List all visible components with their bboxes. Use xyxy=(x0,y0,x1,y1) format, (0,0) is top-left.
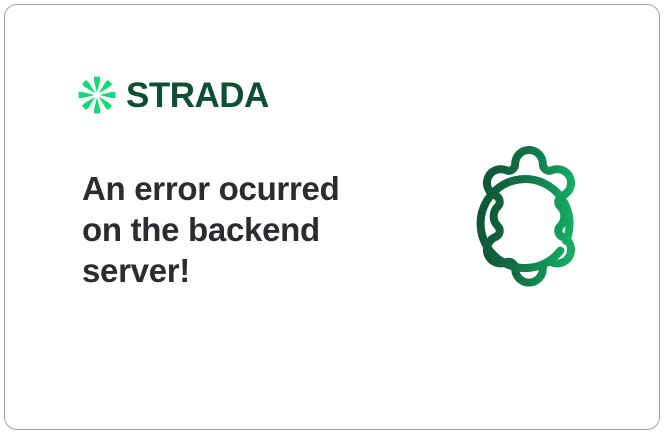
error-message-line-2: on the backend xyxy=(82,209,382,250)
brand-wordmark: STRADA xyxy=(126,78,269,113)
error-message-line-3: server! xyxy=(82,250,382,291)
error-message: An error ocurred on the backend server! xyxy=(82,168,382,291)
error-message-line-1: An error ocurred xyxy=(82,168,382,209)
gear-cog-icon xyxy=(444,142,614,312)
strada-asterisk-icon xyxy=(77,75,117,115)
error-page-root: STRADA An error ocurred on the backend s… xyxy=(0,0,666,436)
error-card: STRADA An error ocurred on the backend s… xyxy=(4,4,660,430)
error-illustration xyxy=(444,142,614,312)
brand-logo: STRADA xyxy=(77,71,269,119)
